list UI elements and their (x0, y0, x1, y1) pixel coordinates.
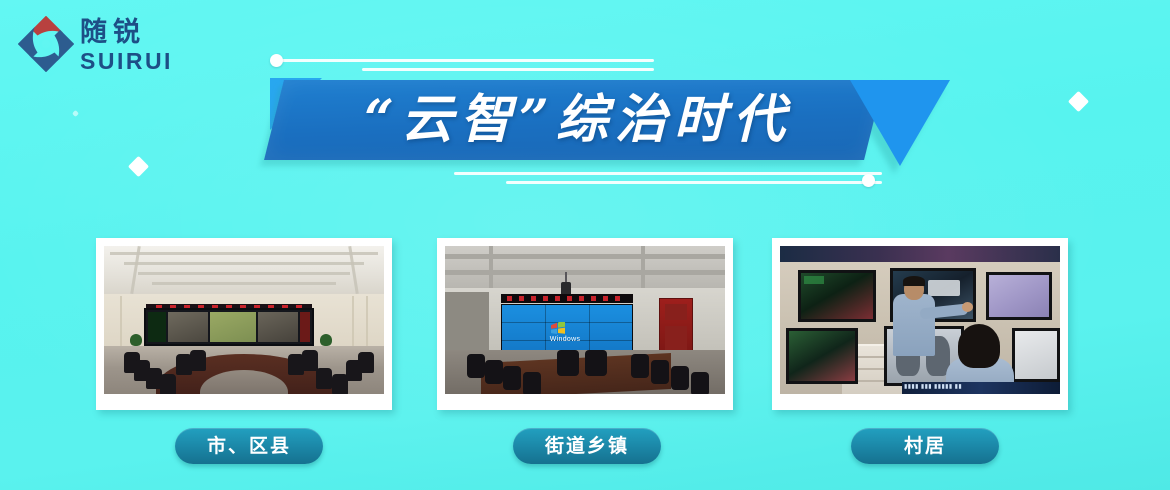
caption-village[interactable]: 村居 (851, 428, 999, 464)
dot-marker-top-icon (270, 54, 283, 67)
card-city-district[interactable] (96, 238, 392, 410)
diamond-left-icon (128, 156, 149, 177)
video-overlay-text: ▮▮▮▮ ▮▮▮ ▮▮▮▮▮ ▮▮ (904, 383, 1058, 390)
card-street-township[interactable]: Windows (437, 238, 733, 410)
card-village[interactable]: ▮▮▮▮ ▮▮▮ ▮▮▮▮▮ ▮▮ (772, 238, 1068, 410)
city-command-center-photo (104, 246, 384, 394)
banner-rule-bottom-short (506, 181, 882, 184)
brand-logo: 随锐 SUIRUI (18, 14, 238, 76)
brand-wordmark: 随锐 SUIRUI (80, 18, 230, 74)
triangle-accent-right-icon (850, 80, 950, 166)
screen-caption: Windows (537, 336, 593, 343)
title-banner: “云智”综治时代 (258, 52, 948, 192)
card-row: Windows (0, 238, 1170, 418)
brand-name-en: SUIRUI (80, 48, 230, 74)
banner-rule-bottom-long (454, 172, 882, 175)
diamond-right-icon (1068, 91, 1089, 112)
dot-marker-bottom-icon (862, 174, 875, 187)
caption-city-district[interactable]: 市、区县 (175, 428, 323, 464)
banner-rule-top-long (282, 59, 654, 62)
brand-name-cn: 随锐 (80, 18, 230, 48)
slide-canvas: 随锐 SUIRUI “云智”综治时代 (0, 0, 1170, 490)
banner-rule-top-short (362, 68, 654, 71)
page-title: “云智”综治时代 (318, 85, 838, 155)
township-meeting-room-photo: Windows (445, 246, 725, 394)
windows-logo-icon (549, 322, 567, 336)
diamond-small-left-icon (72, 110, 79, 117)
caption-street-township[interactable]: 街道乡镇 (513, 428, 661, 464)
village-monitoring-room-photo: ▮▮▮▮ ▮▮▮ ▮▮▮▮▮ ▮▮ (780, 246, 1060, 394)
suirui-pinwheel-logo-icon (18, 16, 74, 72)
